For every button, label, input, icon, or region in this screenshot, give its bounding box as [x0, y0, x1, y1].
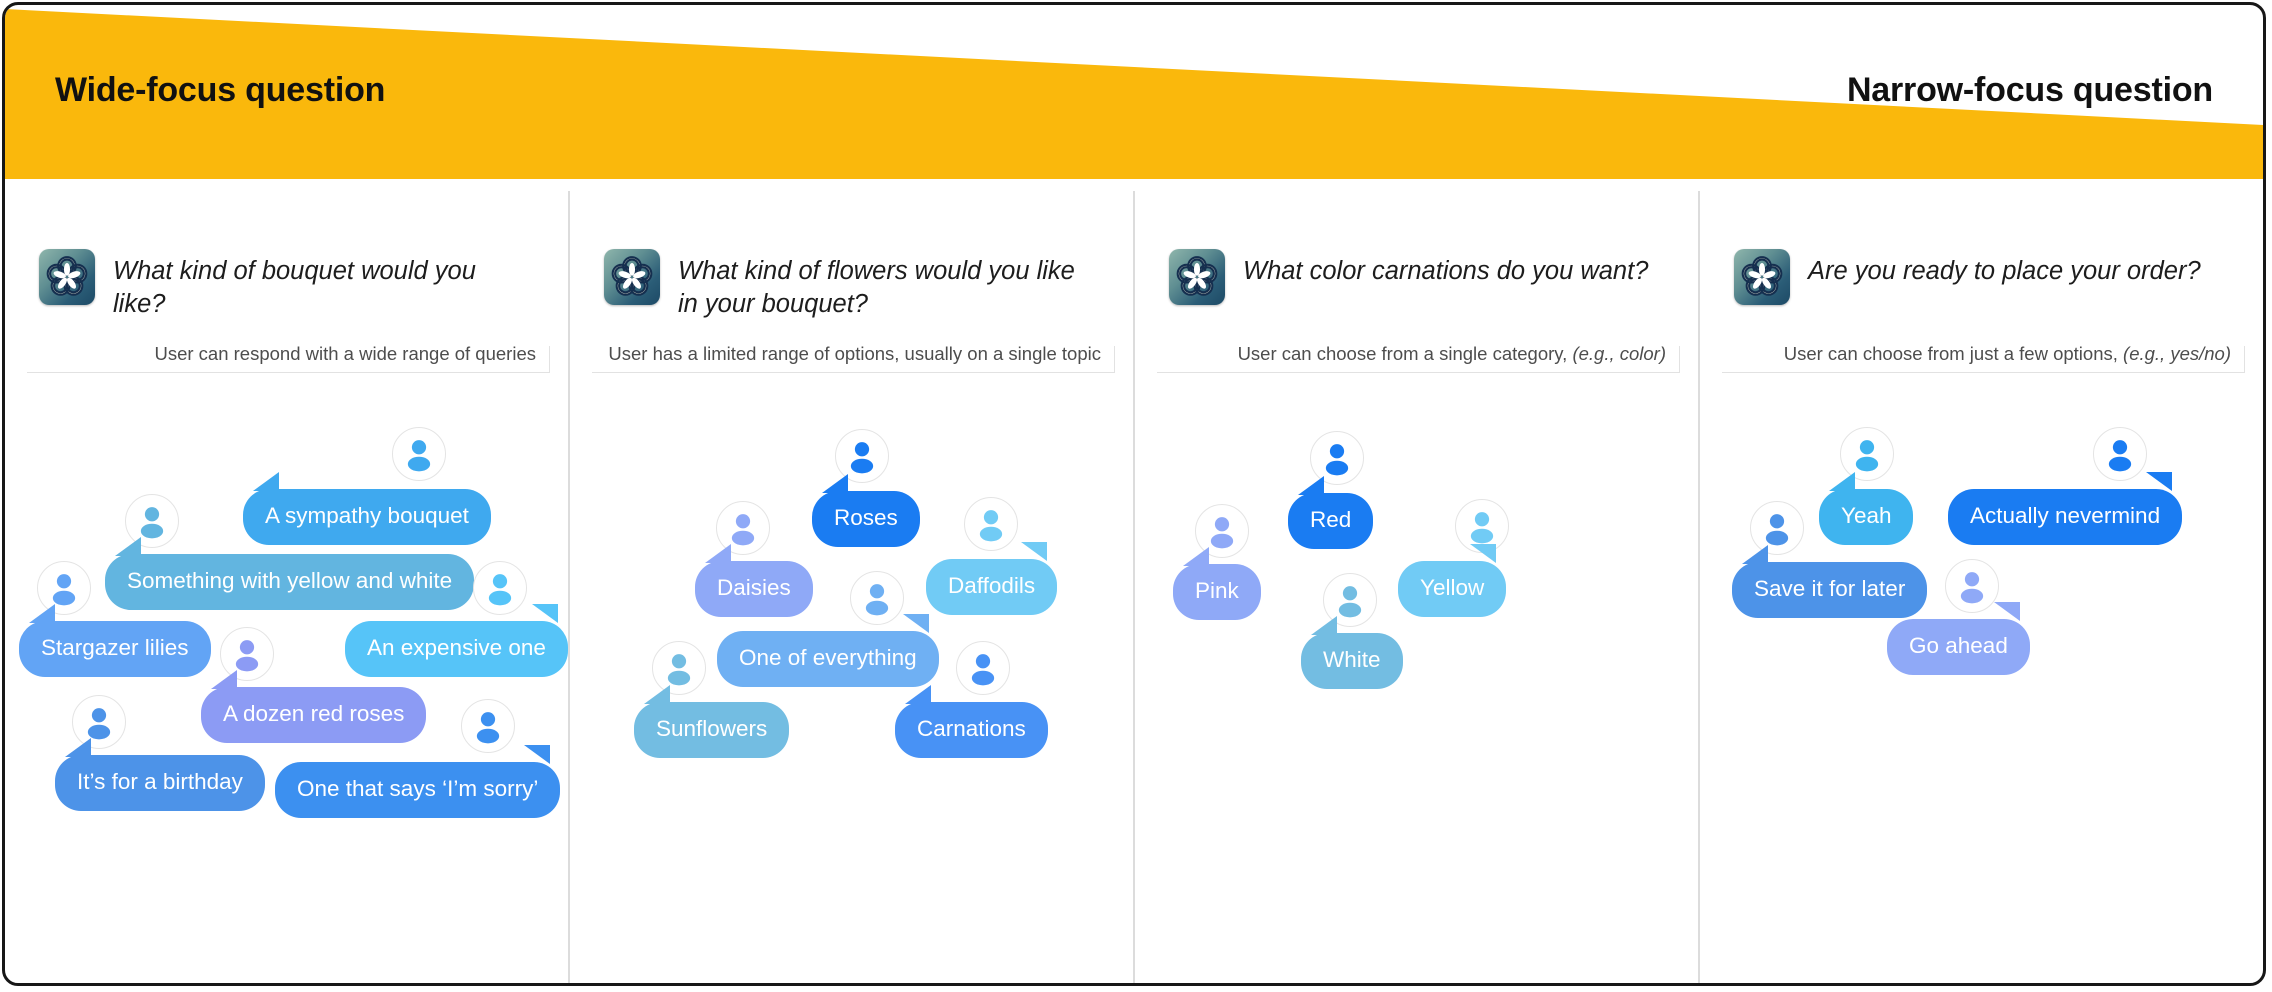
response-bubble-cluster: Red Pink Yellow — [1135, 419, 1698, 889]
response-bubble-5[interactable]: A dozen red roses — [201, 687, 426, 743]
response-bubble-3[interactable]: Yellow — [1398, 561, 1506, 617]
response-bubble-label: Sunflowers — [656, 716, 767, 741]
response-bubble-cluster: A sympathy bouquet Something with yellow… — [5, 419, 568, 889]
bubble-tail-icon — [115, 537, 141, 556]
response-bubble-2[interactable]: Something with yellow and white — [105, 554, 474, 610]
column-question-text: What kind of flowers would you like in y… — [678, 249, 1099, 320]
user-avatar-icon — [473, 561, 527, 615]
response-bubble-4[interactable]: Go ahead — [1887, 619, 2030, 675]
column-question-text: What kind of bouquet would you like? — [113, 249, 534, 320]
flower-logo-glyph — [608, 253, 656, 301]
flower-logo-icon — [39, 249, 95, 305]
flower-logo-icon — [1734, 249, 1790, 305]
response-bubble-label: Pink — [1195, 578, 1239, 603]
response-bubble-label: An expensive one — [367, 635, 546, 660]
bubble-tail-icon — [1311, 616, 1337, 635]
caption-main-text: User can respond with a wide range of qu… — [154, 343, 536, 364]
column-header: Are you ready to place your order? — [1700, 191, 2263, 305]
bubble-tail-icon — [705, 544, 731, 563]
response-bubble-3[interactable]: Daffodils — [926, 559, 1057, 615]
column-caption: User has a limited range of options, usu… — [608, 343, 1115, 372]
question-columns: What kind of bouquet would you like? Use… — [5, 191, 2263, 983]
response-bubble-label: It’s for a birthday — [77, 769, 243, 794]
column-caption-rule: User can choose from a single category, … — [1157, 343, 1680, 373]
column-caption: User can choose from a single category, … — [1238, 343, 1680, 372]
response-bubble-label: A sympathy bouquet — [265, 503, 469, 528]
bubble-tail-icon — [253, 472, 279, 491]
flower-logo-glyph — [43, 253, 91, 301]
narrow-focus-label: Narrow-focus question — [1847, 71, 2213, 110]
flower-logo-icon — [604, 249, 660, 305]
column-header: What kind of bouquet would you like? — [5, 191, 568, 320]
diagram-inner: Wide-focus question Narrow-focus questio… — [5, 5, 2263, 983]
bubble-tail-icon — [1021, 542, 1047, 561]
bubble-tail-icon — [1742, 545, 1768, 564]
user-avatar-icon — [2093, 427, 2147, 481]
bubble-tail-icon — [2146, 472, 2172, 491]
diagram-canvas: Wide-focus question Narrow-focus questio… — [0, 0, 2272, 992]
response-bubble-label: Daffodils — [948, 573, 1035, 598]
response-bubble-6[interactable]: It’s for a birthday — [55, 755, 265, 811]
bubble-tail-icon — [1183, 547, 1209, 566]
bubble-tail-icon — [644, 685, 670, 704]
bubble-tail-icon — [524, 745, 550, 764]
person-glyph-icon — [393, 428, 445, 480]
response-bubble-1[interactable]: A sympathy bouquet — [243, 489, 491, 545]
response-bubble-label: Something with yellow and white — [127, 568, 452, 593]
bubble-tail-icon — [1994, 602, 2020, 621]
user-avatar-icon — [461, 699, 515, 753]
column-header: What kind of flowers would you like in y… — [570, 191, 1133, 320]
bubble-tail-icon — [1470, 544, 1496, 563]
user-avatar-icon — [850, 571, 904, 625]
person-glyph-icon — [957, 642, 1009, 694]
response-bubble-label: Save it for later — [1754, 576, 1905, 601]
person-glyph-icon — [2094, 428, 2146, 480]
bubble-tail-icon — [532, 604, 558, 623]
response-bubble-4[interactable]: An expensive one — [345, 621, 568, 677]
caption-italic-text: (e.g., yes/no) — [2123, 343, 2231, 364]
user-avatar-icon — [956, 641, 1010, 695]
person-glyph-icon — [965, 498, 1017, 550]
user-avatar-icon — [964, 497, 1018, 551]
bubble-tail-icon — [1298, 476, 1324, 495]
response-bubble-1[interactable]: Red — [1288, 493, 1373, 549]
response-bubble-cluster: Yeah Actually nevermind Save it for late… — [1700, 419, 2263, 889]
response-bubble-4[interactable]: White — [1301, 633, 1403, 689]
response-bubble-label: Red — [1310, 507, 1351, 532]
response-bubble-2[interactable]: Actually nevermind — [1948, 489, 2182, 545]
bubble-tail-icon — [29, 604, 55, 623]
user-avatar-icon — [1945, 559, 1999, 613]
person-glyph-icon — [462, 700, 514, 752]
bubble-tail-icon — [903, 614, 929, 633]
question-column-3: What color carnations do you want? User … — [1135, 191, 1700, 983]
person-glyph-icon — [474, 562, 526, 614]
response-bubble-label: A dozen red roses — [223, 701, 404, 726]
response-bubble-cluster: Roses Daisies Daffodils — [570, 419, 1133, 889]
response-bubble-2[interactable]: Daisies — [695, 561, 813, 617]
question-column-2: What kind of flowers would you like in y… — [570, 191, 1135, 983]
response-bubble-label: One of everything — [739, 645, 917, 670]
response-bubble-label: Daisies — [717, 575, 791, 600]
wide-focus-label: Wide-focus question — [55, 71, 385, 110]
focus-spectrum-banner: Wide-focus question Narrow-focus questio… — [5, 5, 2263, 191]
response-bubble-label: Roses — [834, 505, 898, 530]
column-caption-rule: User can choose from just a few options,… — [1722, 343, 2245, 373]
flower-logo-glyph — [1173, 253, 1221, 301]
response-bubble-label: Carnations — [917, 716, 1026, 741]
response-bubble-label: Yeah — [1841, 503, 1891, 528]
column-caption: User can respond with a wide range of qu… — [154, 343, 550, 372]
column-caption: User can choose from just a few options,… — [1784, 343, 2245, 372]
response-bubble-3[interactable]: Save it for later — [1732, 562, 1927, 618]
user-avatar-icon — [392, 427, 446, 481]
response-bubble-label: Go ahead — [1909, 633, 2008, 658]
response-bubble-5[interactable]: Sunflowers — [634, 702, 789, 758]
response-bubble-2[interactable]: Pink — [1173, 564, 1261, 620]
person-glyph-icon — [1946, 560, 1998, 612]
flower-logo-icon — [1169, 249, 1225, 305]
response-bubble-6[interactable]: Carnations — [895, 702, 1048, 758]
bubble-tail-icon — [65, 738, 91, 757]
flower-logo-glyph — [1738, 253, 1786, 301]
response-bubble-1[interactable]: Roses — [812, 491, 920, 547]
caption-main-text: User has a limited range of options, usu… — [608, 343, 1101, 364]
response-bubble-label: Stargazer lilies — [41, 635, 189, 660]
person-glyph-icon — [851, 572, 903, 624]
column-header: What color carnations do you want? — [1135, 191, 1698, 305]
bubble-tail-icon — [1829, 472, 1855, 491]
bubble-tail-icon — [211, 670, 237, 689]
caption-main-text: User can choose from a single category, — [1238, 343, 1573, 364]
question-column-4: Are you ready to place your order? User … — [1700, 191, 2263, 983]
response-bubble-label: Actually nevermind — [1970, 503, 2160, 528]
response-bubble-3[interactable]: Stargazer lilies — [19, 621, 211, 677]
response-bubble-label: White — [1323, 647, 1381, 672]
caption-italic-text: (e.g., color) — [1572, 343, 1666, 364]
bubble-tail-icon — [822, 474, 848, 493]
caption-main-text: User can choose from just a few options, — [1784, 343, 2123, 364]
column-question-text: What color carnations do you want? — [1243, 249, 1648, 288]
response-bubble-label: One that says ‘I’m sorry’ — [297, 776, 538, 801]
response-bubble-4[interactable]: One of everything — [717, 631, 939, 687]
question-column-1: What kind of bouquet would you like? Use… — [5, 191, 570, 983]
bubble-tail-icon — [905, 685, 931, 704]
response-bubble-7[interactable]: One that says ‘I’m sorry’ — [275, 762, 560, 818]
column-question-text: Are you ready to place your order? — [1808, 249, 2201, 288]
column-caption-rule: User has a limited range of options, usu… — [592, 343, 1115, 373]
response-bubble-label: Yellow — [1420, 575, 1484, 600]
column-caption-rule: User can respond with a wide range of qu… — [27, 343, 550, 373]
response-bubble-1[interactable]: Yeah — [1819, 489, 1913, 545]
